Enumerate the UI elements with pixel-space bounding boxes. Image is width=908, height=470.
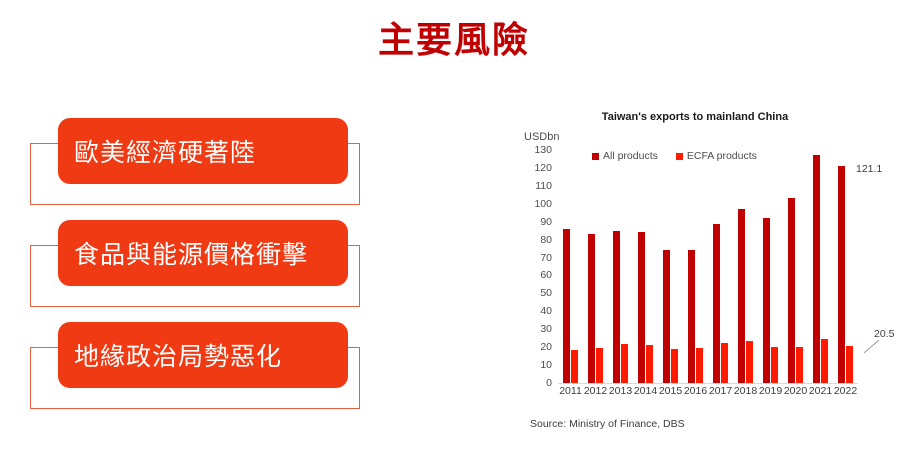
bar-ecfa-products-2014[interactable] — [646, 345, 653, 383]
x-axis: 2011201220132014201520162017201820192020… — [558, 385, 858, 401]
y-axis: 0102030405060708090100110120130 — [524, 150, 554, 395]
bar-all-products-2018[interactable] — [738, 209, 745, 383]
bar-ecfa-products-2015[interactable] — [671, 349, 678, 383]
bar-group-2021 — [813, 150, 828, 383]
bar-group-2011 — [563, 150, 578, 383]
y-axis-tick: 60 — [540, 269, 552, 281]
bar-group-2022 — [838, 150, 853, 383]
bar-ecfa-products-2019[interactable] — [771, 347, 778, 383]
bar-ecfa-products-2017[interactable] — [721, 343, 728, 383]
plot-wrapper: 0102030405060708090100110120130 121.1 20… — [524, 150, 880, 405]
bar-ecfa-products-2021[interactable] — [821, 339, 828, 383]
y-axis-tick: 20 — [540, 341, 552, 353]
risk-item-1[interactable]: 歐美經濟硬著陸 — [0, 118, 420, 213]
bar-ecfa-products-2022[interactable] — [846, 346, 853, 383]
bar-all-products-2016[interactable] — [688, 250, 695, 383]
bar-all-products-2013[interactable] — [613, 231, 620, 383]
risk-chip-3[interactable]: 地緣政治局勢惡化 — [58, 322, 348, 388]
y-axis-tick: 30 — [540, 323, 552, 335]
y-axis-tick: 0 — [546, 377, 552, 389]
x-axis-tick: 2022 — [830, 385, 861, 397]
bar-group-2014 — [638, 150, 653, 383]
risk-item-3[interactable]: 地緣政治局勢惡化 — [0, 322, 420, 417]
bar-all-products-2011[interactable] — [563, 229, 570, 383]
plot-area: 121.1 20.5 — [558, 150, 858, 384]
bar-group-2017 — [713, 150, 728, 383]
bar-ecfa-products-2011[interactable] — [571, 350, 578, 383]
bar-ecfa-products-2016[interactable] — [696, 348, 703, 383]
bar-ecfa-products-2020[interactable] — [796, 347, 803, 383]
page-title: 主要風險 — [0, 18, 908, 62]
risk-list: 歐美經濟硬著陸 食品與能源價格衝擊 地緣政治局勢惡化 — [0, 118, 460, 418]
bar-all-products-2014[interactable] — [638, 232, 645, 383]
bar-group-2020 — [788, 150, 803, 383]
risk-chip-1[interactable]: 歐美經濟硬著陸 — [58, 118, 348, 184]
bar-all-products-2022[interactable] — [838, 166, 845, 383]
bar-group-2018 — [738, 150, 753, 383]
bar-all-products-2017[interactable] — [713, 224, 720, 384]
bar-ecfa-products-2012[interactable] — [596, 348, 603, 383]
bar-all-products-2020[interactable] — [788, 198, 795, 383]
y-axis-tick: 100 — [534, 198, 552, 210]
bar-all-products-2012[interactable] — [588, 234, 595, 383]
slide-canvas: 主要風險 歐美經濟硬著陸 食品與能源價格衝擊 地緣政治局勢惡化 Taiwan's… — [0, 0, 908, 470]
chart-unit-label: USDbn — [524, 131, 559, 143]
y-axis-tick: 40 — [540, 305, 552, 317]
y-axis-tick: 130 — [534, 144, 552, 156]
leader-line-icon — [862, 340, 880, 354]
risk-label-3: 地緣政治局勢惡化 — [74, 322, 342, 388]
value-label-all-2022: 121.1 — [856, 163, 882, 175]
bar-all-products-2015[interactable] — [663, 250, 670, 383]
exports-bar-chart: Taiwan's exports to mainland China USDbn… — [500, 105, 900, 445]
bar-group-2012 — [588, 150, 603, 383]
bar-group-2013 — [613, 150, 628, 383]
bar-ecfa-products-2013[interactable] — [621, 344, 628, 383]
bar-group-2019 — [763, 150, 778, 383]
bar-group-2016 — [688, 150, 703, 383]
bar-all-products-2019[interactable] — [763, 218, 770, 383]
chart-source-note: Source: Ministry of Finance, DBS — [530, 418, 685, 430]
bar-ecfa-products-2018[interactable] — [746, 341, 753, 383]
y-axis-tick: 110 — [535, 180, 552, 192]
risk-label-2: 食品與能源價格衝擊 — [74, 220, 342, 286]
bar-group-2015 — [663, 150, 678, 383]
chart-title: Taiwan's exports to mainland China — [500, 111, 890, 123]
y-axis-tick: 50 — [540, 287, 552, 299]
risk-item-2[interactable]: 食品與能源價格衝擊 — [0, 220, 420, 315]
y-axis-tick: 90 — [540, 216, 552, 228]
y-axis-tick: 70 — [540, 252, 552, 264]
bar-all-products-2021[interactable] — [813, 155, 820, 383]
risk-chip-2[interactable]: 食品與能源價格衝擊 — [58, 220, 348, 286]
risk-label-1: 歐美經濟硬著陸 — [74, 118, 342, 184]
y-axis-tick: 120 — [534, 162, 552, 174]
y-axis-tick: 10 — [540, 359, 552, 371]
value-label-ecfa-2022: 20.5 — [874, 328, 894, 340]
y-axis-tick: 80 — [540, 234, 552, 246]
